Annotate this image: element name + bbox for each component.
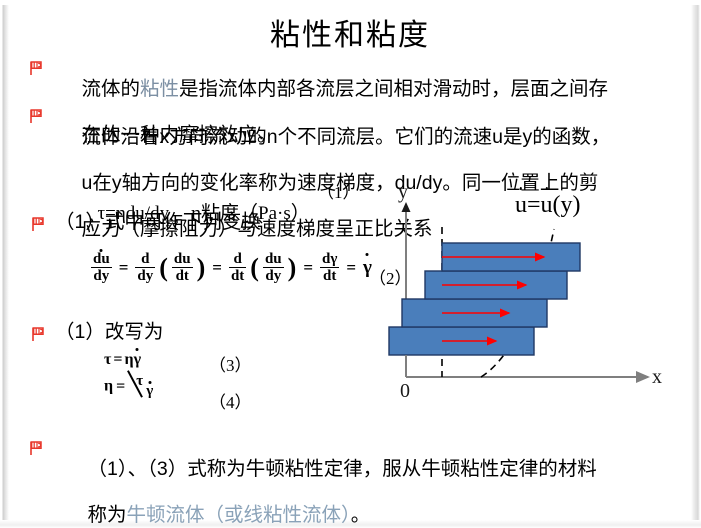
eq2-term4: d dt	[229, 251, 246, 284]
eq2-t2-den: dy	[135, 267, 155, 284]
equation-4-number: （4）	[209, 391, 252, 414]
eq2-term1: du dy	[91, 251, 112, 284]
x-axis-label: x	[652, 366, 662, 389]
slide-border-right	[691, 0, 701, 528]
eq2-t6-num: dγ	[320, 251, 339, 267]
eq2-t3-den: dt	[172, 267, 193, 284]
eq2-term2: d dy	[135, 251, 155, 284]
curve-label-u1: u	[515, 192, 527, 219]
eq2-t2-num: d	[135, 251, 155, 267]
eq4-equals: =	[113, 378, 128, 395]
eq2-t4-num: d	[229, 251, 246, 267]
bullet-flag-icon	[31, 216, 45, 232]
bullet5-seg-0: （1）、（3）式称为	[88, 458, 246, 480]
bullet1-seg-0: 流体的	[82, 78, 141, 100]
eq2-paren-open-2: (	[250, 255, 259, 281]
bullet-newton-law: （1）、（3）式称为牛顿粘性定律，服从牛顿粘性定律的材料 称为牛顿流体（或线粘性…	[55, 435, 685, 528]
curve-label: u=u(y)	[515, 192, 581, 219]
curve-label-eq: =	[527, 192, 541, 218]
slide-canvas: 粘性和粘度 流体的粘性是指流体内部各流层之间相对滑动时，层面之间存 在的一种内摩…	[9, 4, 691, 520]
curve-label-u2: u	[541, 192, 553, 219]
shear-flow-diagram: y x 0 u=u(y)	[386, 187, 681, 417]
eq3-eta: η	[125, 351, 134, 368]
eq2-equals-3: =	[300, 258, 316, 278]
origin-label: 0	[400, 380, 410, 403]
bullet-flag-icon	[29, 60, 43, 76]
eq2-equals-4: =	[343, 258, 359, 278]
eq2-t1-den: dy	[91, 267, 112, 284]
eq2-t5-den: dy	[263, 267, 284, 284]
eq2-term5: du dy	[263, 251, 284, 284]
bullet2-line1: 流体沿着x方向流动的n个不同流层。它们的流速u是y的函数，	[82, 126, 611, 148]
eq2-paren-open-1: (	[159, 255, 168, 281]
eq2-equals-2: =	[209, 258, 225, 278]
equation-4: η= τ γ	[104, 376, 162, 398]
eq2-paren-close-2: )	[288, 255, 297, 281]
bullet1-seg-1-highlight: 粘性	[140, 78, 179, 100]
bullet5-seg-1: 牛顿粘性定律	[246, 458, 363, 480]
bullet-rewrite-text: （1）改写为	[55, 321, 163, 344]
eq4-denominator: γ	[146, 383, 153, 400]
eq2-term6: dγ dt	[320, 251, 339, 284]
bullet5-seg-2: ，服从牛顿粘性定律的材料	[363, 458, 597, 480]
y-axis-label: y	[398, 181, 408, 204]
eq2-t4-den: dt	[229, 267, 246, 284]
page-title: 粘性和粘度	[9, 10, 691, 54]
eq4-fraction: τ γ	[132, 376, 162, 398]
bullet-flag-icon	[29, 108, 43, 124]
bullet5-line2-seg-2: 。	[351, 504, 371, 526]
curve-label-arg: (y)	[553, 192, 581, 218]
equation-3: τ=ηγ	[104, 351, 141, 369]
fluid-layer-group	[389, 243, 580, 355]
bullet-transform-text: （1）式中可作下列变换	[55, 211, 261, 234]
eq3-equals: =	[111, 351, 124, 368]
slide-border-left	[0, 0, 9, 528]
bullet-flag-icon	[29, 440, 43, 456]
bullet5-line2-seg-1-highlight: 牛顿流体（或线粘性流体）	[127, 504, 351, 526]
eq2-t3-num: du	[172, 251, 193, 267]
eq3-gamma-dot: γ	[134, 351, 141, 369]
slide-root: 粘性和粘度 流体的粘性是指流体内部各流层之间相对滑动时，层面之间存 在的一种内摩…	[0, 0, 701, 528]
bullet5-line2-seg-0: 称为	[88, 504, 127, 526]
eq2-term3: du dt	[172, 251, 193, 284]
eq2-t1-num: du	[93, 251, 110, 267]
bullet1-seg-2: 是指流体内部各流层之间相对滑动时，层面之间存	[179, 78, 608, 100]
eq2-equals-1: =	[116, 258, 132, 278]
diagram-svg	[386, 187, 681, 417]
eq2-t5-num: du	[263, 251, 284, 267]
equation-2: du dy = d dy ( du dt ) = d dt ( du dy	[91, 251, 372, 284]
equation-3-number: （3）	[209, 354, 252, 377]
eq4-lhs: η	[104, 378, 113, 395]
equation-1-number: （1）	[317, 181, 360, 204]
eq2-t6-den: dt	[320, 267, 339, 284]
eq2-paren-close-1: )	[197, 255, 206, 281]
bullet-flag-icon	[31, 326, 45, 342]
